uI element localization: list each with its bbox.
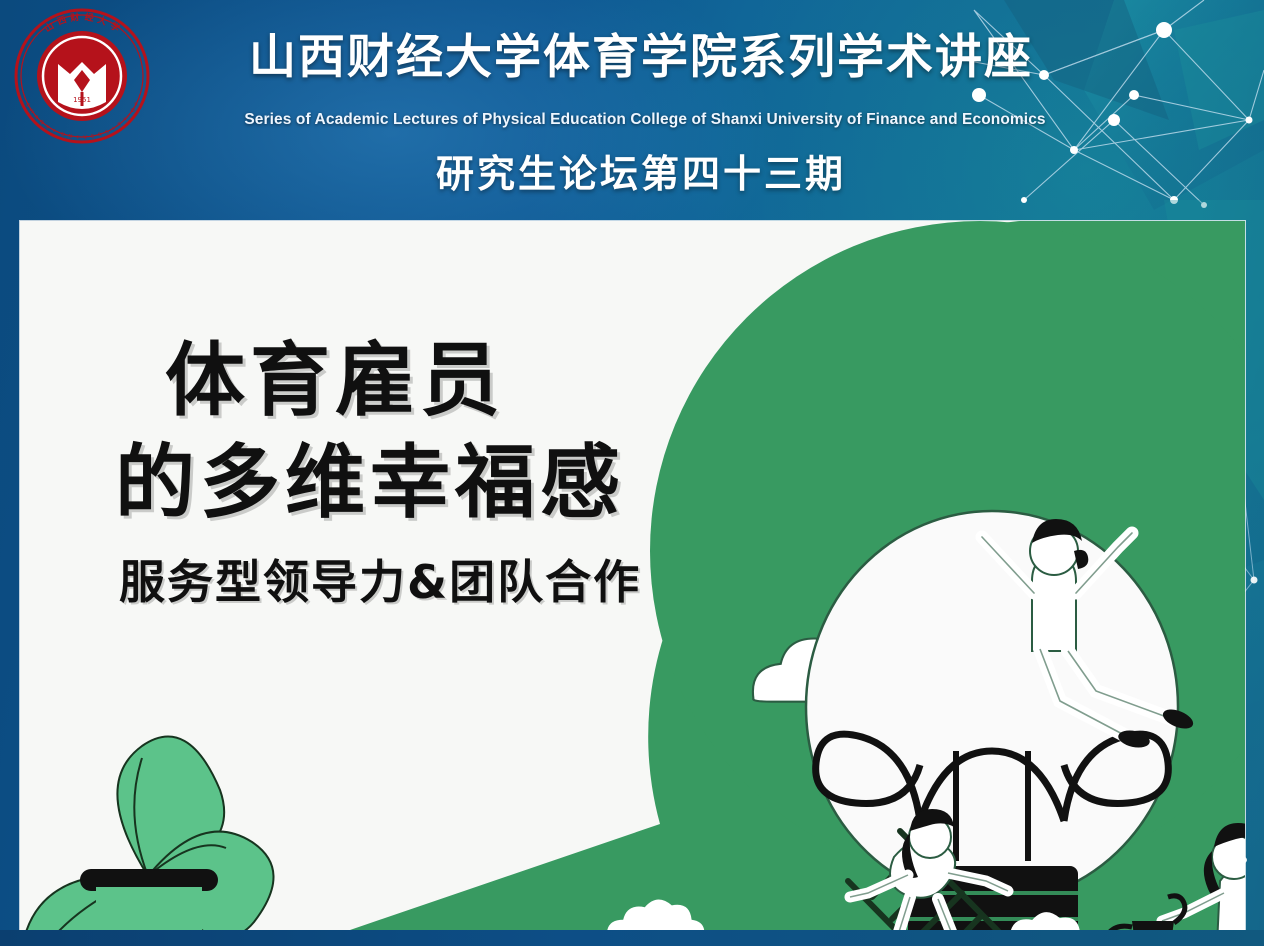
svg-text:V: V [83,135,87,141]
slide-content[interactable]: 体育雇员 的多维幸福感 服务型领导力&团队合作 2022.07.21 / 李璐 [20,221,1245,930]
header-banner: 1951 山 西 财 经 大 学 S H A N X I U N I V E [0,0,1264,221]
svg-text:E: E [91,134,95,140]
svg-text:N: N [68,134,73,141]
presentation-screen: 1951 山 西 财 经 大 学 S H A N X I U N I V E [0,0,1264,946]
svg-text:经: 经 [84,11,94,24]
svg-text:财: 财 [69,11,80,24]
bottom-strip [0,930,1264,946]
svg-text:R: R [98,132,104,139]
banner-subtitle-en: Series of Academic Lectures of Physical … [120,112,1170,128]
svg-text:1951: 1951 [73,96,91,104]
svg-text:I: I [77,135,79,141]
banner-title-cn: 山西财经大学体育学院系列学术讲座 [176,34,1106,81]
slide-title-line2: 的多维幸福感 [115,443,755,523]
slide-title-block: 体育雇员 的多维幸福感 服务型领导力&团队合作 [115,341,755,605]
slide-title-line1: 体育雇员 [165,341,755,421]
slide-subtitle: 服务型领导力&团队合作 [119,559,755,605]
banner-forum-cn: 研究生论坛第四十三期 [176,155,1106,193]
svg-text:西: 西 [56,14,68,27]
